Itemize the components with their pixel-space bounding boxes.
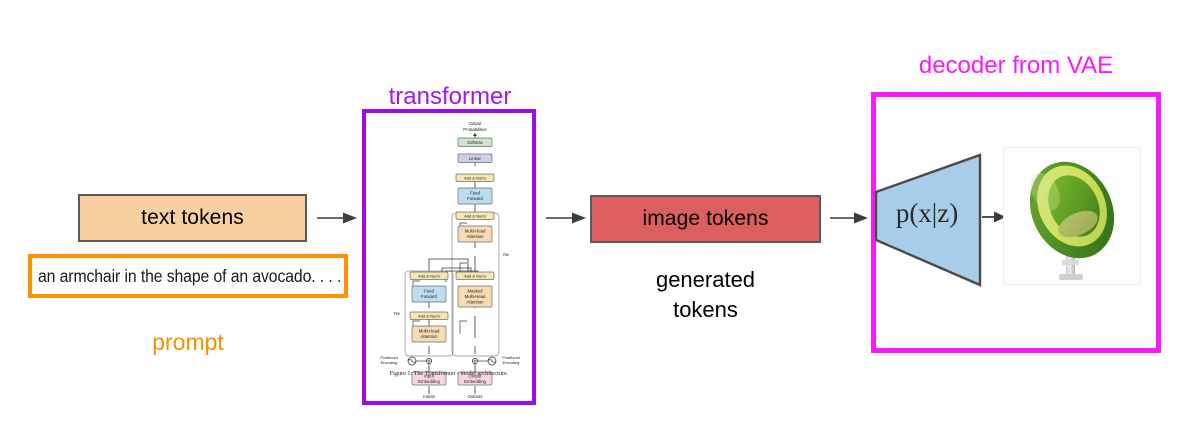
svg-text:Add & Norm: Add & Norm [418, 313, 440, 318]
generated-tokens-caption-line1: generated [590, 265, 821, 295]
tf-dec-positional-line2: Encoding [503, 360, 520, 365]
generated-image-avocado-armchair [1003, 147, 1141, 285]
image-tokens-box: image tokens [590, 195, 821, 243]
text-tokens-box: text tokens [78, 194, 307, 242]
arrow-transformer-to-image-tokens [546, 211, 586, 225]
tf-enc-repeat-label: Nx [394, 311, 400, 316]
svg-text:Embedding: Embedding [464, 379, 486, 384]
svg-text:Feed: Feed [470, 191, 480, 196]
generated-tokens-caption: generated tokens [590, 265, 821, 325]
tf-output-probabilities-line1: Output [469, 121, 483, 126]
tf-output-probabilities-line2: Probabilities [463, 127, 486, 132]
svg-text:Add & Norm: Add & Norm [418, 273, 440, 278]
svg-text:Feed: Feed [424, 289, 434, 294]
tf-block-linear-label: Linear [469, 156, 482, 161]
decoder-probability-label: p(x|z) [884, 198, 970, 229]
svg-text:Attention: Attention [467, 234, 485, 239]
text-tokens-label: text tokens [141, 206, 244, 230]
image-tokens-label: image tokens [642, 207, 768, 231]
arrow-text-tokens-to-transformer [317, 211, 357, 225]
svg-text:Forward: Forward [467, 196, 483, 201]
svg-text:Forward: Forward [421, 294, 437, 299]
prompt-box[interactable]: an armchair in the shape of an avocado. … [28, 254, 348, 298]
svg-text:Embedding: Embedding [418, 379, 440, 384]
transformer-caption: transformer [360, 83, 540, 111]
tf-outputs-label: Outputs [467, 394, 482, 398]
svg-text:Attention: Attention [467, 300, 485, 305]
tf-dec-repeat-label: Nx [503, 252, 509, 257]
svg-text:Multi-Head: Multi-Head [465, 294, 486, 299]
tf-enc-positional-line2: Encoding [381, 360, 398, 365]
prompt-text: an armchair in the shape of an avocado. … [38, 266, 341, 287]
prompt-caption: prompt [28, 329, 348, 356]
svg-text:Multi-Head: Multi-Head [465, 229, 486, 234]
arrow-image-tokens-to-decoder [830, 211, 868, 225]
svg-text:Add & Norm: Add & Norm [464, 273, 486, 278]
tf-block-softmax-label: Softmax [467, 140, 484, 145]
svg-text:Masked: Masked [467, 289, 483, 294]
transformer-architecture-figure: Output Probabilities Softmax Linear Add … [372, 116, 526, 398]
vae-decoder-caption: decoder from VAE [871, 52, 1161, 80]
svg-text:Add & Norm: Add & Norm [464, 213, 486, 218]
transformer-figure-caption: Figure 1: The Transformer - model archit… [366, 370, 532, 377]
tf-inputs-label: Inputs [423, 394, 435, 398]
svg-text:Add & Norm: Add & Norm [464, 175, 486, 180]
svg-text:Attention: Attention [421, 334, 439, 339]
generated-tokens-caption-line2: tokens [590, 295, 821, 325]
diagram-canvas: text tokens an armchair in the shape of … [0, 0, 1200, 428]
svg-text:Multi-Head: Multi-Head [419, 329, 440, 334]
